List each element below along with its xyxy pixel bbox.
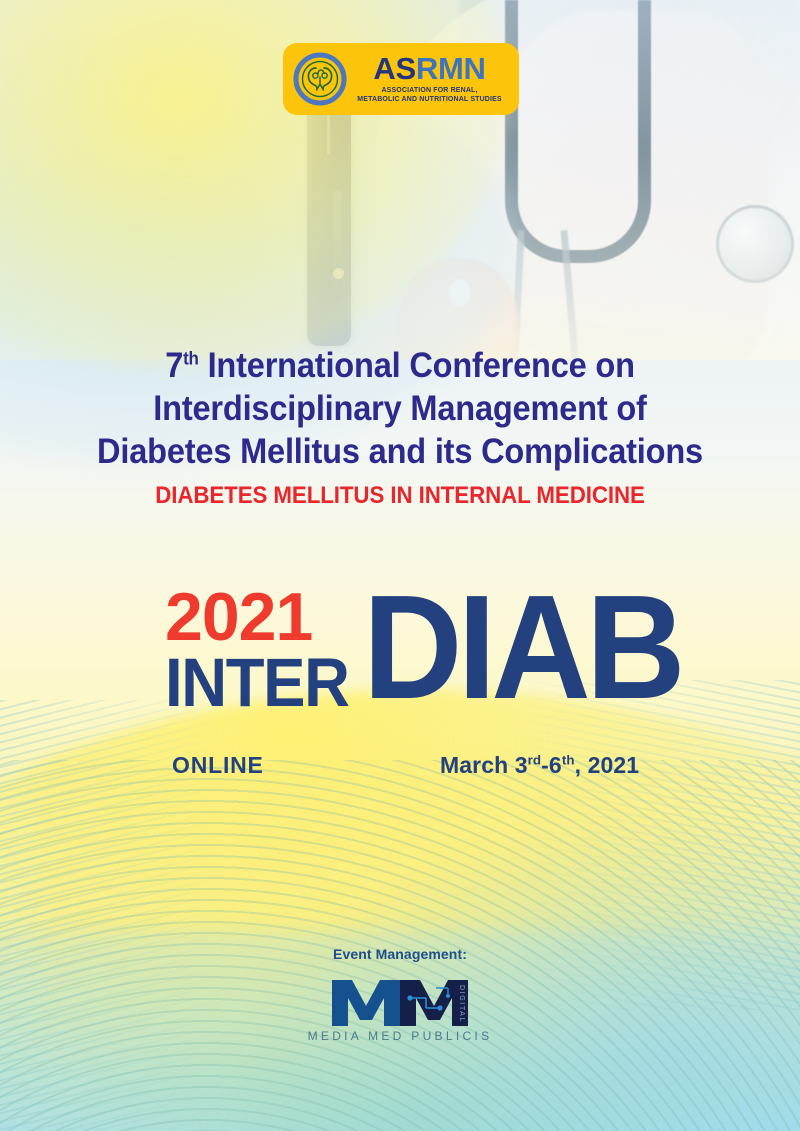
asrmn-logo-badge: ASRMN ASSOCIATION FOR RENAL, METABOLIC A… bbox=[283, 43, 519, 115]
title-line-3: Diabetes Mellitus and its Complications bbox=[28, 430, 772, 473]
asrmn-tagline-line-1: ASSOCIATION FOR RENAL, bbox=[350, 87, 509, 96]
asrmn-text-block: ASRMN ASSOCIATION FOR RENAL, METABOLIC A… bbox=[348, 53, 509, 104]
event-date-sup-1: rd bbox=[528, 752, 542, 767]
event-date-sup-2: th bbox=[562, 752, 575, 767]
title-block: 7th International Conference on Interdis… bbox=[0, 344, 800, 510]
svg-text:DIGITAL: DIGITAL bbox=[458, 985, 465, 1023]
asrmn-acronym: ASRMN bbox=[350, 53, 509, 84]
asrmn-tagline-line-2: METABOLIC AND NUTRITIONAL STUDIES bbox=[350, 96, 509, 105]
asrmn-tagline: ASSOCIATION FOR RENAL, METABOLIC AND NUT… bbox=[350, 87, 509, 104]
conference-poster: ASRMN ASSOCIATION FOR RENAL, METABOLIC A… bbox=[0, 0, 800, 1131]
interdiab-year: 2021 bbox=[165, 586, 377, 649]
interdiab-diab: DIAB bbox=[363, 574, 681, 722]
event-date-prefix: March 3 bbox=[440, 752, 528, 778]
asrmn-acronym-as: AS bbox=[373, 51, 415, 86]
event-management-label: Event Management: bbox=[0, 946, 800, 962]
title-line-2: Interdisciplinary Management of bbox=[28, 387, 772, 430]
media-med-publicis-wordmark: MEDIA MED PUBLICIS bbox=[0, 1029, 800, 1043]
event-date-suffix: , 2021 bbox=[575, 752, 640, 778]
footer-block: Event Management: DIGITAL MEDIA MED PUBL… bbox=[0, 946, 800, 1043]
poster-subtitle: DIABETES MELLITUS IN INTERNAL MEDICINE bbox=[28, 482, 772, 510]
asrmn-acronym-rmn: RMN bbox=[416, 51, 486, 86]
event-date: March 3rd-6th, 2021 bbox=[440, 752, 639, 779]
media-med-publicis-logo-icon: DIGITAL bbox=[326, 968, 474, 1028]
interdiab-inter: INTER bbox=[165, 651, 360, 714]
kidney-emblem-icon bbox=[292, 51, 348, 107]
event-date-mid: -6 bbox=[541, 752, 562, 778]
title-line-1: 7th International Conference on bbox=[28, 344, 772, 387]
interdiab-left-stack: 2021 INTER bbox=[165, 586, 377, 714]
title-ordinal: 7 bbox=[165, 346, 183, 385]
title-ordinal-suffix: th bbox=[183, 348, 199, 368]
event-format: ONLINE bbox=[172, 752, 264, 779]
interdiab-logo: 2021 INTER DIAB bbox=[165, 586, 645, 746]
title-line-1-rest: International Conference on bbox=[199, 346, 635, 385]
